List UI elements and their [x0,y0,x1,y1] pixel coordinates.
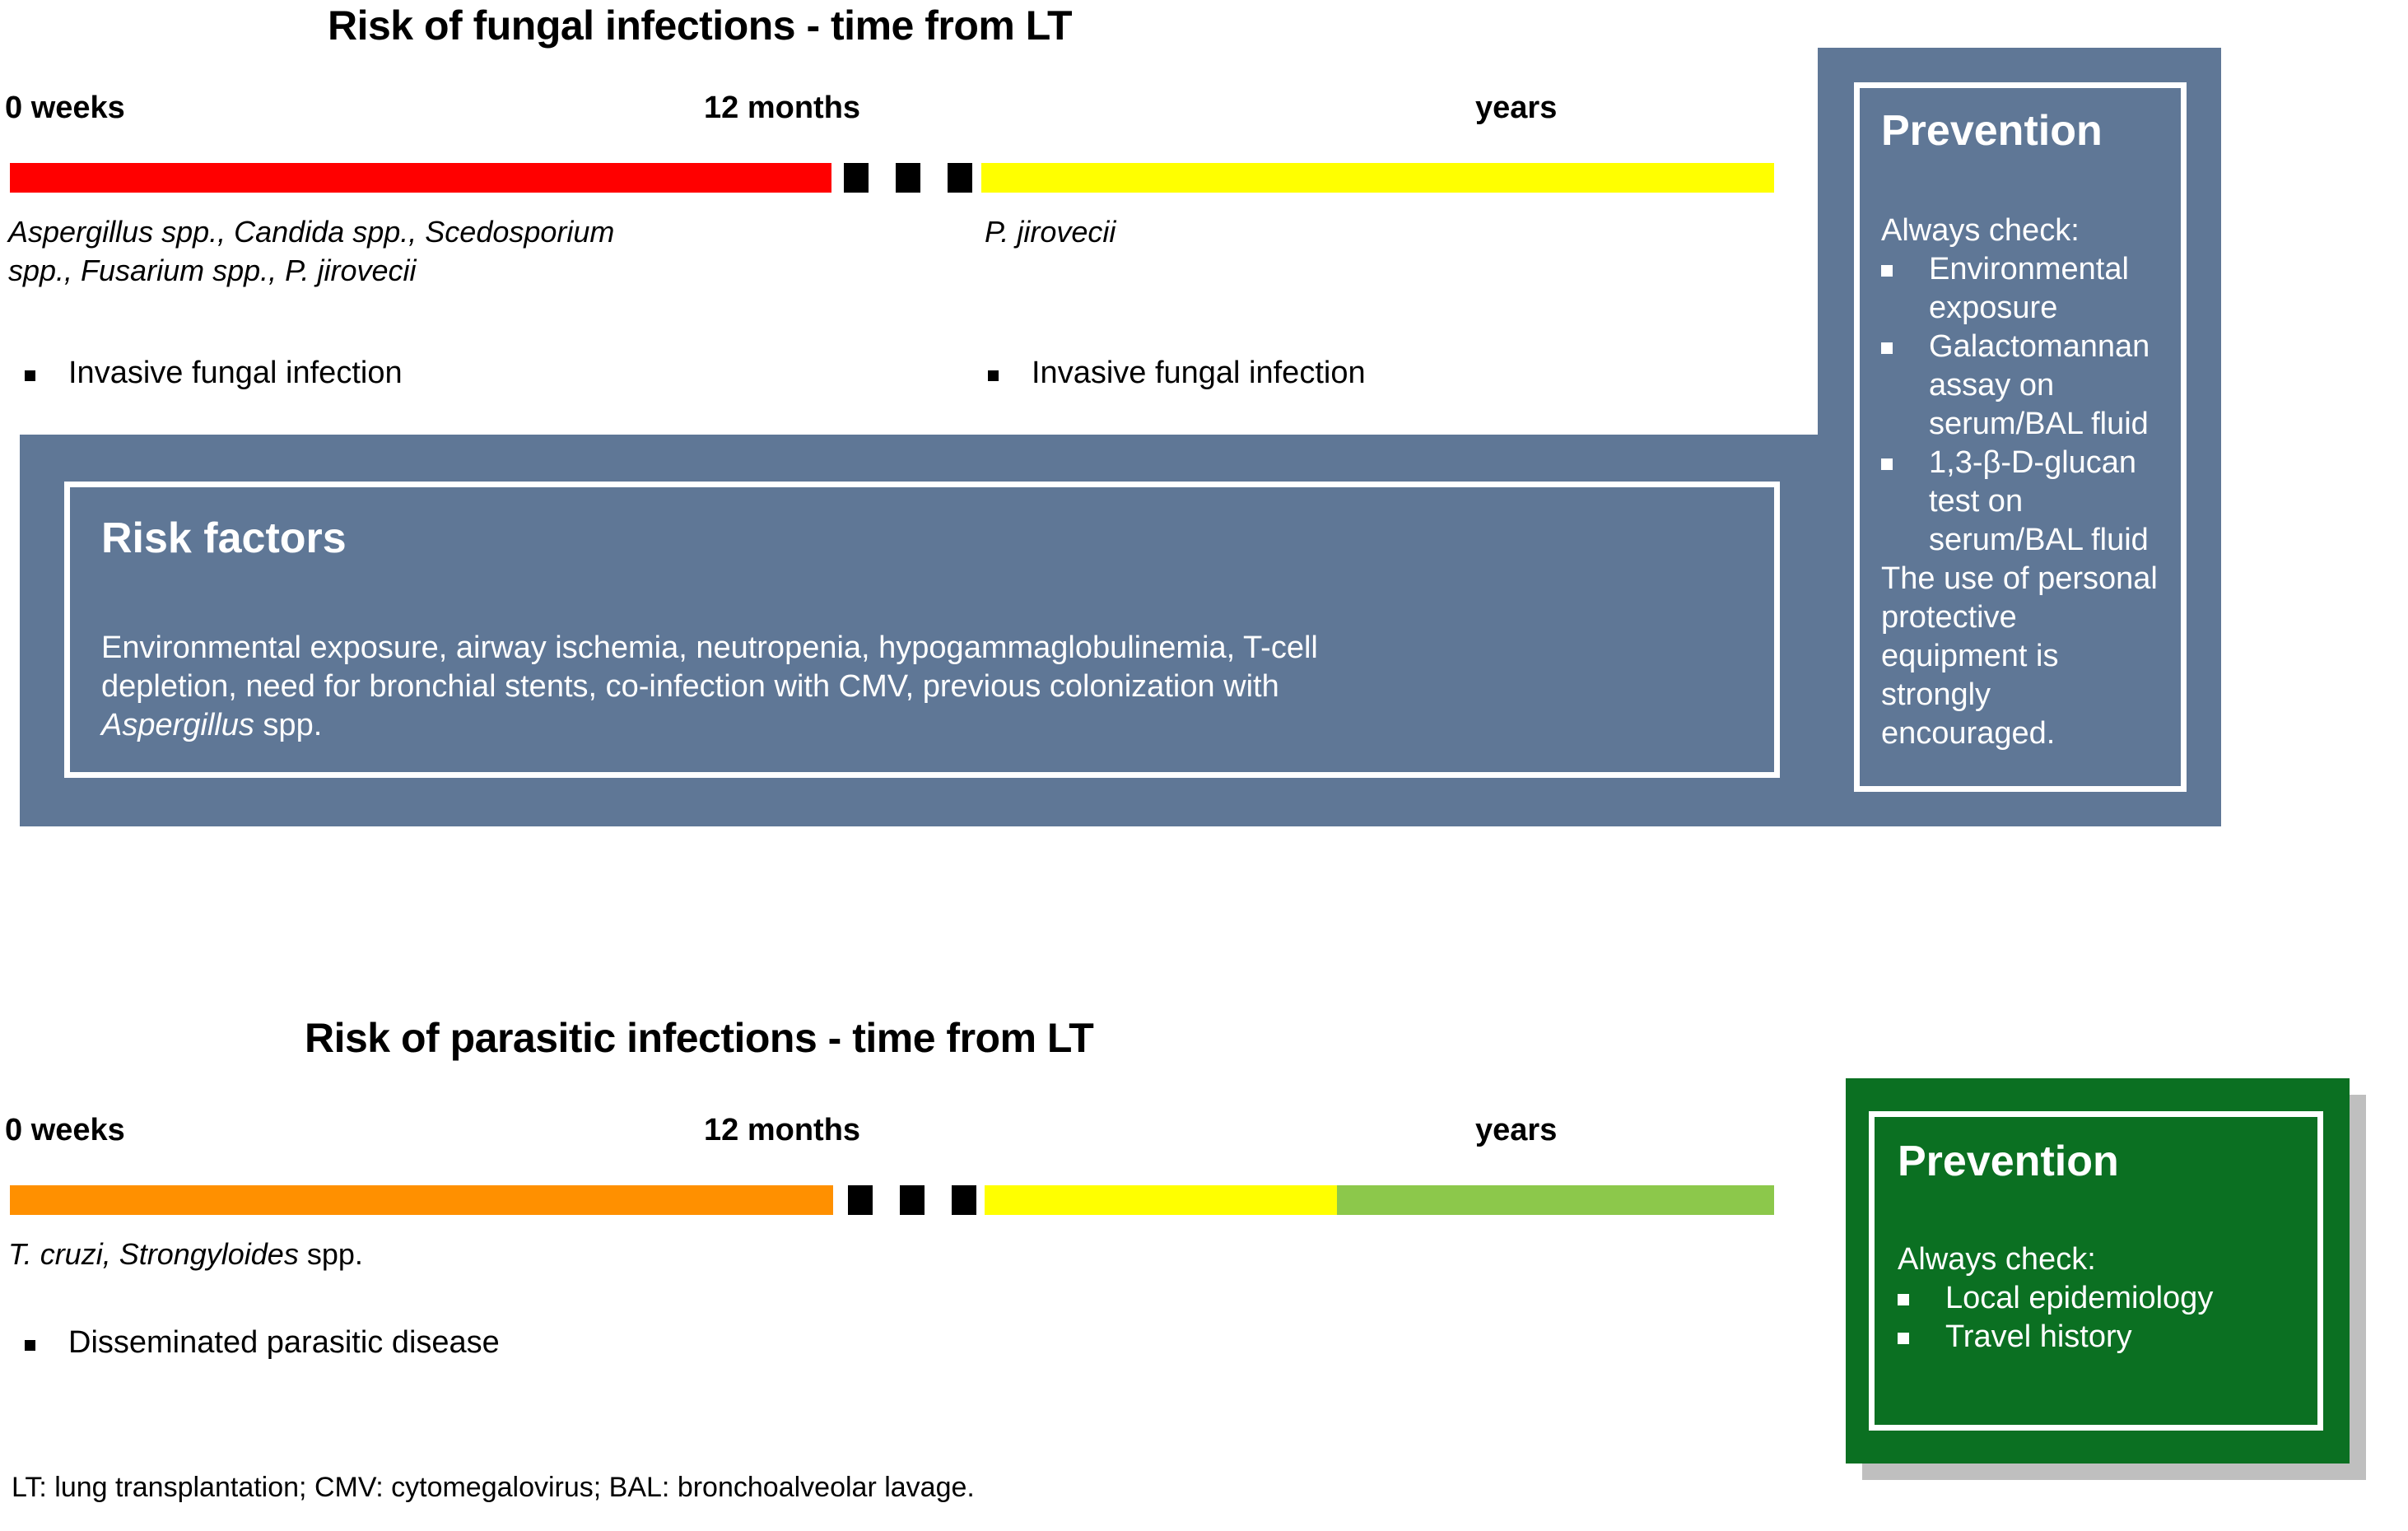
fungal-prevention-body: Always check: Environmental exposure Gal… [1881,212,2169,753]
fungal-section-title: Risk of fungal infections - time from LT [328,2,1072,49]
parasitic-bar-dash-1 [848,1185,873,1215]
parasitic-bar-mid [985,1185,1337,1215]
bullet-square-icon [25,1340,35,1351]
bullet-square-icon [25,370,35,381]
fungal-prevention-title: Prevention [1881,106,2103,156]
fungal-bar-dash-1 [844,163,869,193]
fungal-late-species: P. jirovecii [985,212,1116,251]
parasitic-scale-start: 0 weeks [5,1113,125,1148]
risk-factors-title: Risk factors [101,514,347,563]
fungal-prevention-item-3-label: 1,3-β-D-glucan test on serum/BAL fluid [1929,444,2169,560]
fungal-prevention-item-1: Environmental exposure [1881,250,2169,328]
parasitic-prevention-item-2: Travel history [1898,1318,2309,1356]
parasitic-bar-dash-2 [900,1185,925,1215]
parasitic-species-rest: spp. [299,1237,363,1271]
parasitic-prevention-item-1: Local epidemiology [1898,1279,2309,1318]
footnote: LT: lung transplantation; CMV: cytomegal… [12,1472,975,1504]
parasitic-bar-late [1337,1185,1774,1215]
fungal-early-species-line1: Aspergillus spp., Candida spp., Scedospo… [8,215,614,249]
fungal-early-species-line2: spp., Fusarium spp., P. jirovecii [8,254,417,287]
fungal-prevention-box: Prevention Always check: Environmental e… [1854,82,2187,792]
parasitic-prevention-item-2-label: Travel history [1945,1318,2132,1356]
parasitic-prevention-body: Always check: Local epidemiology Travel … [1898,1240,2309,1356]
parasitic-bar-dash-3 [952,1185,976,1215]
fungal-early-species: Aspergillus spp., Candida spp., Scedospo… [8,212,881,290]
parasitic-section-title: Risk of parasitic infections - time from… [305,1014,1093,1062]
fungal-scale-start: 0 weeks [5,91,125,126]
fungal-scale-mid: 12 months [704,91,860,126]
fungal-early-bullet: Invasive fungal infection [25,356,403,391]
parasitic-scale-mid: 12 months [704,1113,860,1148]
parasitic-prevention-title: Prevention [1898,1137,2119,1186]
fungal-bar-late [981,163,1774,193]
parasitic-species: T. cruzi, Strongyloides spp. [8,1235,363,1273]
risk-factors-line-1: Environmental exposure, airway ischemia,… [101,631,1318,665]
fungal-prevention-item-3: 1,3-β-D-glucan test on serum/BAL fluid [1881,444,2169,560]
parasitic-bar-early [10,1185,833,1215]
parasitic-species-italic: T. cruzi, Strongyloides [8,1237,299,1271]
risk-factors-line-2: depletion, need for bronchial stents, co… [101,669,1279,704]
fungal-prevention-item-2: Galactomannan assay on serum/BAL fluid [1881,328,2169,444]
fungal-bar-dash-3 [948,163,972,193]
fungal-bar-early [10,163,831,193]
risk-factors-body: Environmental exposure, airway ischemia,… [101,629,1740,745]
fungal-prevention-lead: Always check: [1881,212,2169,250]
bullet-square-icon [1881,265,1893,277]
fungal-prevention-item-2-label: Galactomannan assay on serum/BAL fluid [1929,328,2169,444]
infographic-root: Risk of fungal infections - time from LT… [0,0,2408,1531]
fungal-prevention-tail: The use of personal protective equipment… [1881,560,2169,753]
bullet-square-icon [1898,1333,1909,1344]
bullet-square-icon [1881,458,1893,470]
parasitic-scale-end: years [1475,1113,1557,1148]
parasitic-prevention-item-1-label: Local epidemiology [1945,1279,2213,1318]
risk-factors-box: Risk factors Environmental exposure, air… [64,482,1780,778]
parasitic-bullet-label: Disseminated parasitic disease [68,1325,500,1361]
bullet-square-icon [988,370,999,381]
risk-factors-line-3-rest: spp. [254,708,322,742]
bullet-square-icon [1898,1294,1909,1305]
fungal-early-bullet-label: Invasive fungal infection [68,356,403,391]
parasitic-bullet: Disseminated parasitic disease [25,1325,500,1361]
risk-factors-line-3-italic: Aspergillus [101,708,254,742]
parasitic-prevention-lead: Always check: [1898,1240,2309,1279]
fungal-bar-dash-2 [896,163,920,193]
fungal-prevention-item-1-label: Environmental exposure [1929,250,2169,328]
bullet-square-icon [1881,342,1893,354]
fungal-late-bullet: Invasive fungal infection [988,356,1366,391]
fungal-late-bullet-label: Invasive fungal infection [1032,356,1366,391]
parasitic-prevention-box: Prevention Always check: Local epidemiol… [1846,1078,2350,1464]
parasitic-prevention-frame: Prevention Always check: Local epidemiol… [1869,1111,2323,1431]
fungal-scale-end: years [1475,91,1557,126]
